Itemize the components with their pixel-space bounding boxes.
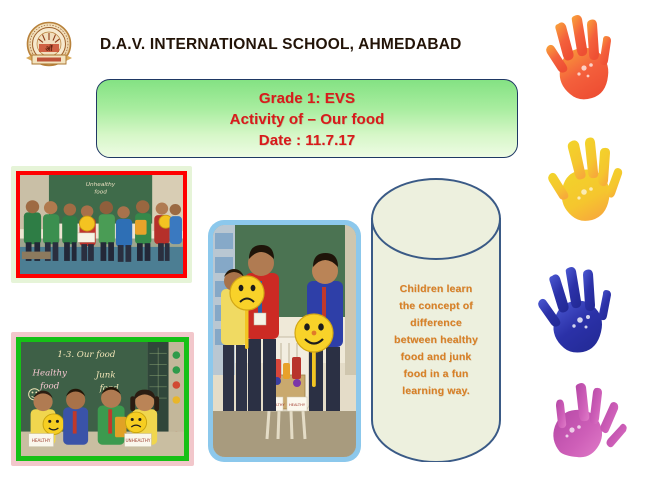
photo-classroom-group-image: Unhealthy food — [16, 171, 187, 278]
title-line-date: Date : 11.7.17 — [259, 130, 355, 151]
page-title: D.A.V. INTERNATIONAL SCHOOL, AHMEDABAD — [100, 36, 520, 54]
callout-cylinder: Children learn the concept of difference… — [370, 177, 502, 462]
svg-text:Unhealthy: Unhealthy — [86, 182, 116, 188]
activity-title-box: Grade 1: EVS Activity of – Our food Date… — [96, 79, 518, 158]
photo-three-children-masks: UNHEALTHY HEALTHY — [208, 220, 361, 462]
svg-text:HEALTHY: HEALTHY — [32, 438, 51, 443]
photo-three-children-masks-image: UNHEALTHY HEALTHY — [213, 225, 356, 457]
svg-text:Healthy: Healthy — [31, 369, 67, 379]
handprint-icon-orange — [534, 8, 626, 126]
svg-text:food: food — [39, 382, 60, 392]
svg-text:UNHEALTHY: UNHEALTHY — [125, 438, 150, 443]
title-line-grade: Grade 1: EVS — [259, 88, 355, 109]
handprint-icon-pink — [536, 372, 634, 482]
handprint-icon-yellow — [538, 128, 630, 246]
svg-text:HEALTHY: HEALTHY — [289, 403, 306, 407]
photo-four-children-board: 1-3. Our food Healthy food Junk food — [11, 332, 194, 466]
title-line-activity: Activity of – Our food — [230, 109, 385, 130]
callout-line-1: Children learn — [378, 281, 494, 298]
callout-line-6: food in a fun — [378, 366, 494, 383]
callout-line-4: between healthy — [378, 332, 494, 349]
school-crest-logo: ओं — [20, 20, 78, 74]
callout-line-7: learning way. — [378, 383, 494, 400]
svg-text:ओं: ओं — [45, 44, 53, 53]
slide-canvas: ओं D.A.V. INTERNATIONAL SCHOOL, AHMEDABA… — [0, 0, 650, 487]
photo-four-children-board-image: 1-3. Our food Healthy food Junk food — [16, 337, 189, 461]
callout-line-3: difference — [378, 315, 494, 332]
callout-text: Children learn the concept of difference… — [378, 281, 494, 400]
callout-line-2: the concept of — [378, 298, 494, 315]
svg-text:1-3. Our food: 1-3. Our food — [57, 350, 116, 360]
photo-classroom-group: Unhealthy food — [11, 166, 192, 283]
callout-line-5: food and junk — [378, 349, 494, 366]
svg-text:Junk: Junk — [94, 371, 116, 381]
svg-text:food: food — [94, 190, 107, 196]
handprint-icon-blue — [530, 258, 626, 378]
